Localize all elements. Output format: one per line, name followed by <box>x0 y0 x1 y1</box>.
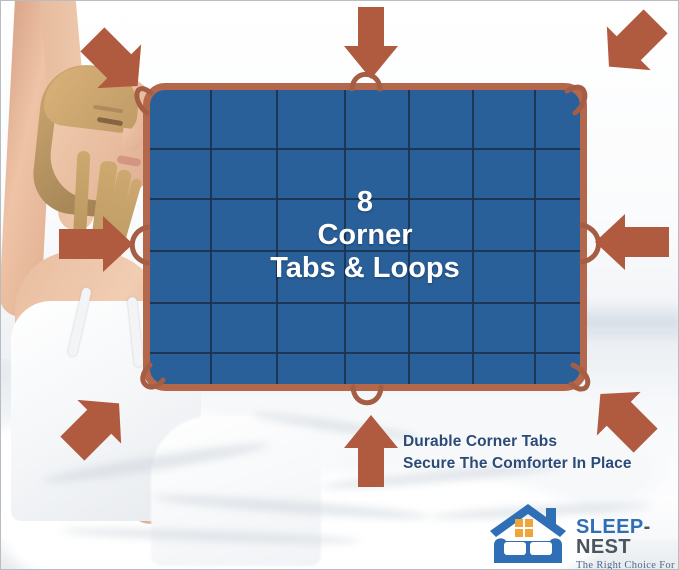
comforter-headline: 8 Corner Tabs & Loops <box>150 186 580 285</box>
logo-slogan: The Right Choice For You <box>576 561 676 570</box>
logo-name-part1: SLEEP <box>576 516 644 538</box>
tagline-line-1: Durable Corner Tabs <box>403 431 665 453</box>
house-with-bed-icon <box>484 501 576 563</box>
comforter-panel: 8 Corner Tabs & Loops <box>143 83 587 391</box>
logo-wordmark: SLEEP-NEST The Right Choice For You <box>576 517 676 570</box>
quilt-stitch-line <box>146 148 587 150</box>
tagline-line-2: Secure The Comforter In Place <box>403 453 665 475</box>
logo-name: SLEEP-NEST <box>576 517 676 557</box>
headline-line-2: Corner <box>150 219 580 252</box>
headline-line-3: Tabs & Loops <box>150 252 580 285</box>
quilt-stitch-line <box>146 302 587 304</box>
product-image: 8 Corner Tabs & Loops <box>0 0 679 570</box>
brand-logo: SLEEP-NEST The Right Choice For You <box>484 501 676 563</box>
bedding-over-leg <box>151 416 321 566</box>
quilt-stitch-line <box>146 352 587 354</box>
tagline: Durable Corner Tabs Secure The Comforter… <box>403 431 665 475</box>
headline-line-1: 8 <box>150 186 580 219</box>
